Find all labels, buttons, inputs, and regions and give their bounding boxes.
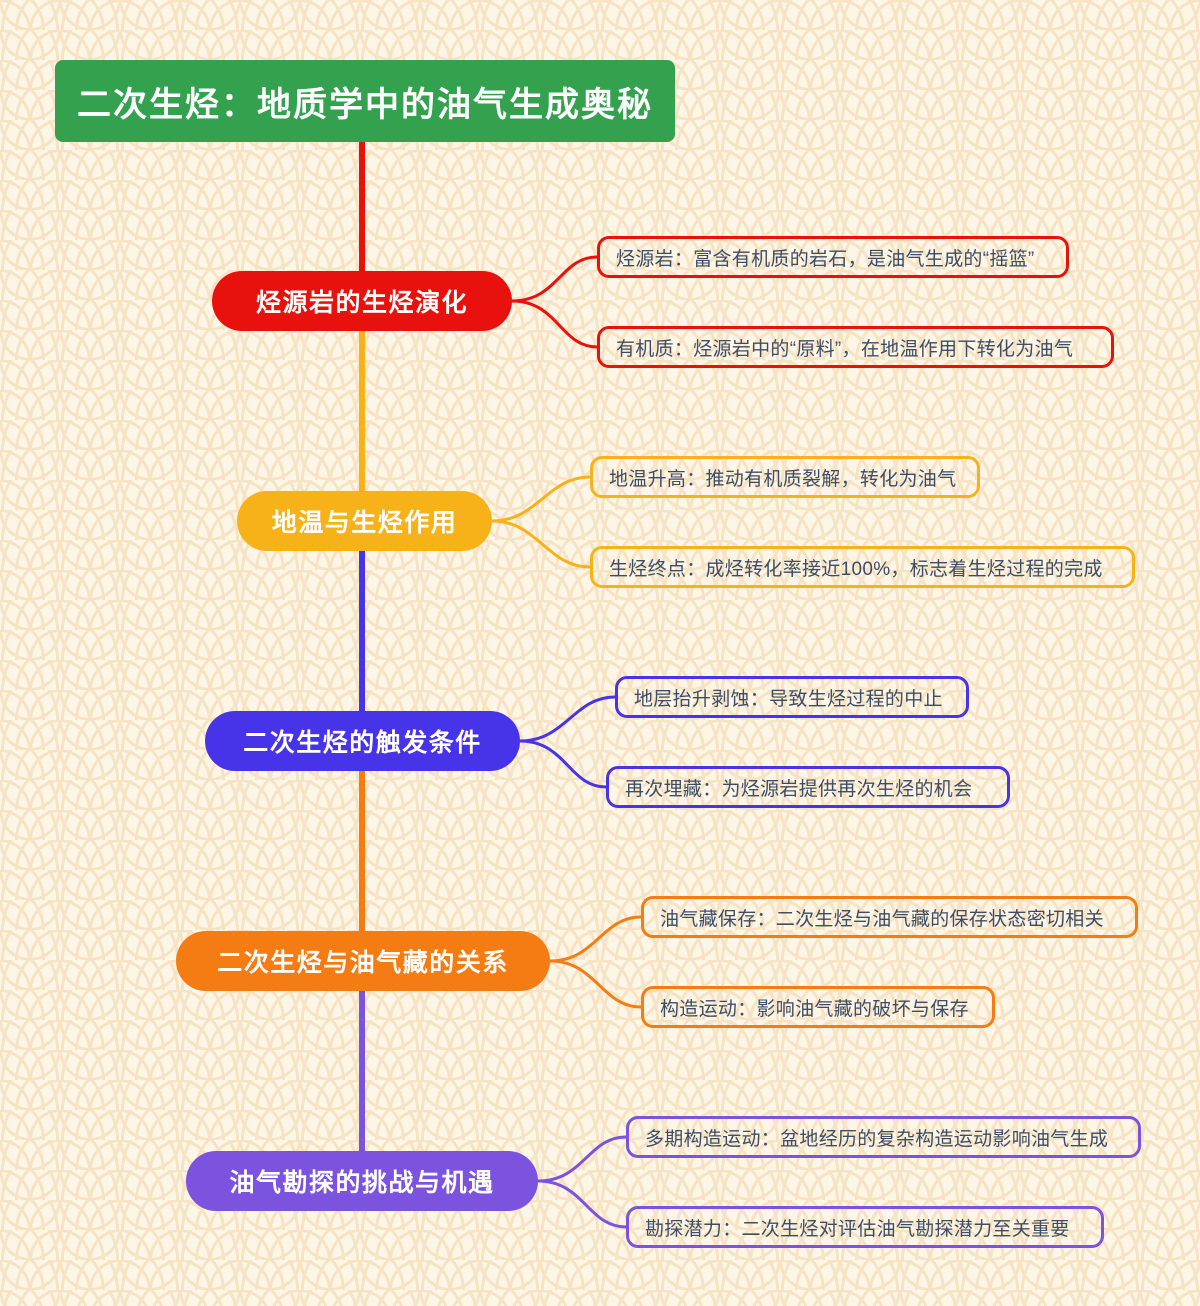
branch-node-2[interactable]: 地温与生烃作用	[237, 491, 492, 551]
leaf-node-1-2[interactable]: 有机质：烃源岩中的“原料”，在地温作用下转化为油气	[597, 326, 1114, 368]
leaf-node-2-1[interactable]: 地温升高：推动有机质裂解，转化为油气	[590, 456, 980, 498]
branch-node-1[interactable]: 烃源岩的生烃演化	[212, 271, 512, 331]
leaf-node-label: 勘探潜力：二次生烃对评估油气勘探潜力至关重要	[645, 1214, 1070, 1241]
leaf-node-5-2[interactable]: 勘探潜力：二次生烃对评估油气勘探潜力至关重要	[626, 1206, 1104, 1248]
branch-node-5[interactable]: 油气勘探的挑战与机遇	[186, 1151, 538, 1211]
leaf-node-2-2[interactable]: 生烃终点：成烃转化率接近100%，标志着生烃过程的完成	[590, 546, 1135, 588]
branch-node-label: 二次生烃与油气藏的关系	[217, 943, 509, 979]
leaf-node-5-1[interactable]: 多期构造运动：盆地经历的复杂构造运动影响油气生成	[626, 1116, 1141, 1158]
mindmap-node-layer: 二次生烃：地质学中的油气生成奥秘 烃源岩的生烃演化烃源岩：富含有机质的岩石，是油…	[0, 0, 1200, 1306]
leaf-node-label: 地层抬升剥蚀：导致生烃过程的中止	[634, 684, 943, 711]
mindmap-title-node[interactable]: 二次生烃：地质学中的油气生成奥秘	[55, 60, 675, 142]
branch-node-label: 油气勘探的挑战与机遇	[229, 1163, 494, 1199]
leaf-node-label: 生烃终点：成烃转化率接近100%，标志着生烃过程的完成	[609, 554, 1103, 581]
leaf-node-label: 有机质：烃源岩中的“原料”，在地温作用下转化为油气	[616, 334, 1073, 361]
leaf-node-label: 油气藏保存：二次生烃与油气藏的保存状态密切相关	[660, 904, 1104, 931]
branch-node-label: 二次生烃的触发条件	[243, 723, 482, 759]
branch-node-3[interactable]: 二次生烃的触发条件	[205, 711, 520, 771]
leaf-node-label: 烃源岩：富含有机质的岩石，是油气生成的“摇篮”	[616, 244, 1035, 271]
mindmap-title-label: 二次生烃：地质学中的油气生成奥秘	[77, 77, 653, 126]
branch-node-label: 地温与生烃作用	[272, 503, 458, 539]
leaf-node-1-1[interactable]: 烃源岩：富含有机质的岩石，是油气生成的“摇篮”	[597, 236, 1069, 278]
leaf-node-label: 再次埋藏：为烃源岩提供再次生烃的机会	[625, 774, 972, 801]
leaf-node-label: 多期构造运动：盆地经历的复杂构造运动影响油气生成	[645, 1124, 1108, 1151]
branch-node-label: 烃源岩的生烃演化	[256, 283, 468, 319]
leaf-node-3-1[interactable]: 地层抬升剥蚀：导致生烃过程的中止	[615, 676, 969, 718]
leaf-node-label: 构造运动：影响油气藏的破坏与保存	[660, 994, 969, 1021]
leaf-node-3-2[interactable]: 再次埋藏：为烃源岩提供再次生烃的机会	[606, 766, 1010, 808]
branch-node-4[interactable]: 二次生烃与油气藏的关系	[176, 931, 550, 991]
leaf-node-4-2[interactable]: 构造运动：影响油气藏的破坏与保存	[641, 986, 995, 1028]
leaf-node-label: 地温升高：推动有机质裂解，转化为油气	[609, 464, 956, 491]
leaf-node-4-1[interactable]: 油气藏保存：二次生烃与油气藏的保存状态密切相关	[641, 896, 1138, 938]
